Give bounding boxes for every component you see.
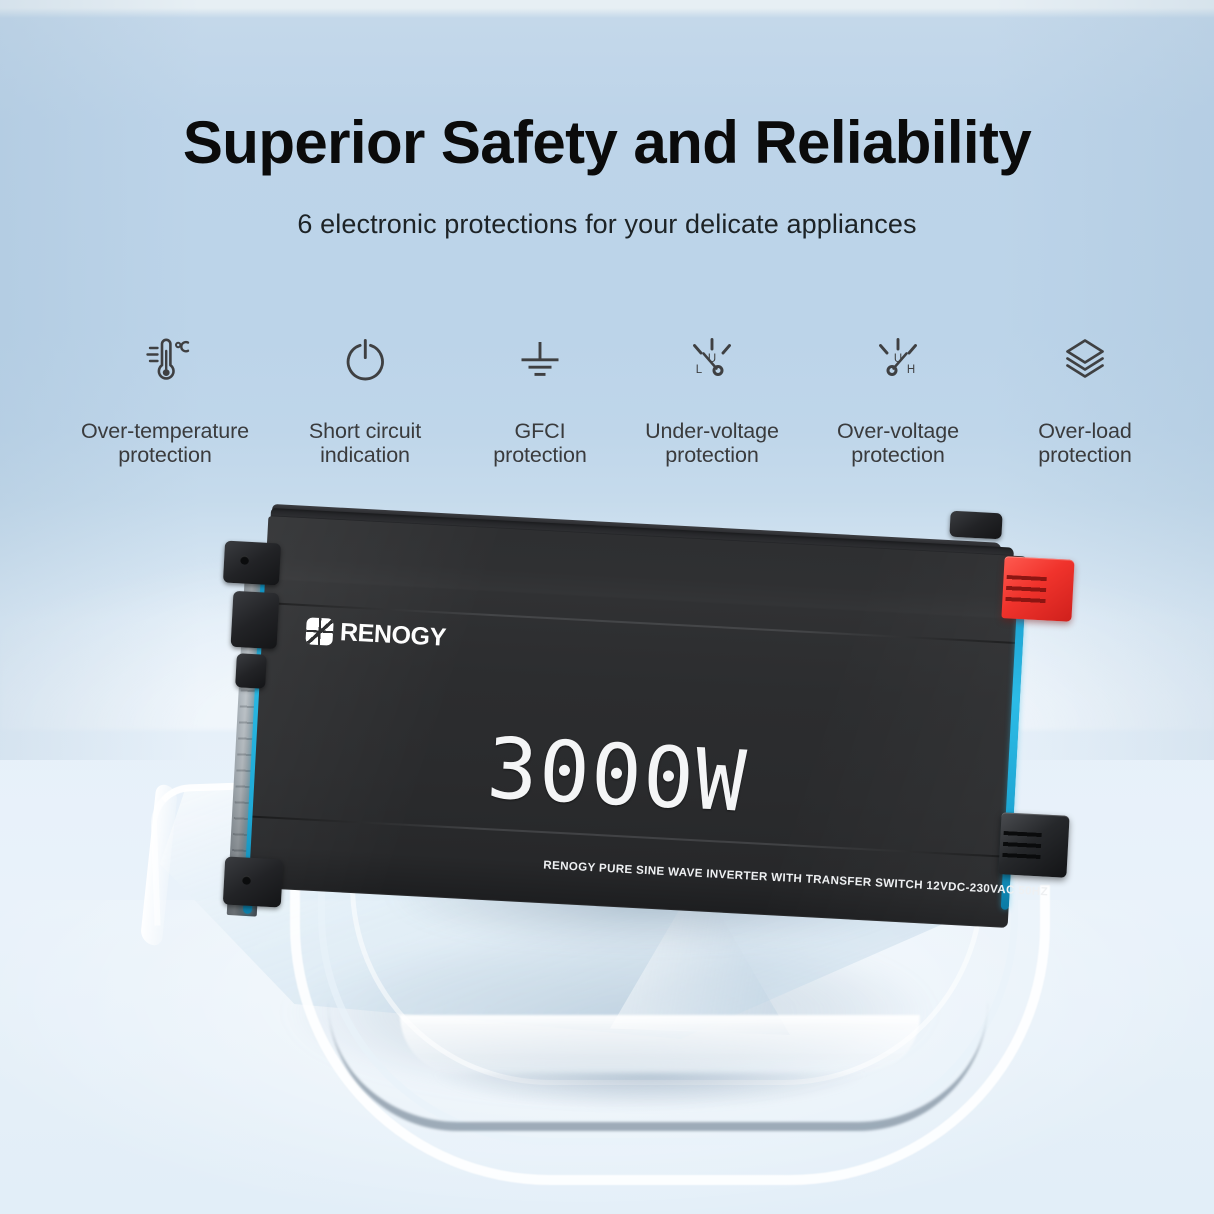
mounting-bracket-mid-left xyxy=(235,653,267,689)
bracket-hole xyxy=(240,555,249,564)
stand-contact-shadow xyxy=(370,1073,930,1121)
solar-panel-grid-icon xyxy=(305,617,333,645)
mounting-bracket-upper-left xyxy=(231,591,280,649)
product-photo-inverter: RENOGY 3000W RENOGY PURE SINE WAVE INVER… xyxy=(0,0,1214,1214)
stand-specular-highlight xyxy=(400,1015,920,1075)
brand-name: RENOGY xyxy=(339,618,446,653)
mounting-bracket-top-right xyxy=(949,511,1002,540)
positive-terminal-slots xyxy=(1005,575,1047,607)
mounting-bracket-top-left xyxy=(223,541,281,586)
negative-terminal-slots xyxy=(1002,831,1041,861)
mounting-bracket-bottom-left xyxy=(223,856,283,907)
power-rating-label: 3000W xyxy=(485,719,750,831)
bracket-hole xyxy=(242,875,251,884)
inverter-chassis: RENOGY 3000W RENOGY PURE SINE WAVE INVER… xyxy=(258,536,1018,936)
